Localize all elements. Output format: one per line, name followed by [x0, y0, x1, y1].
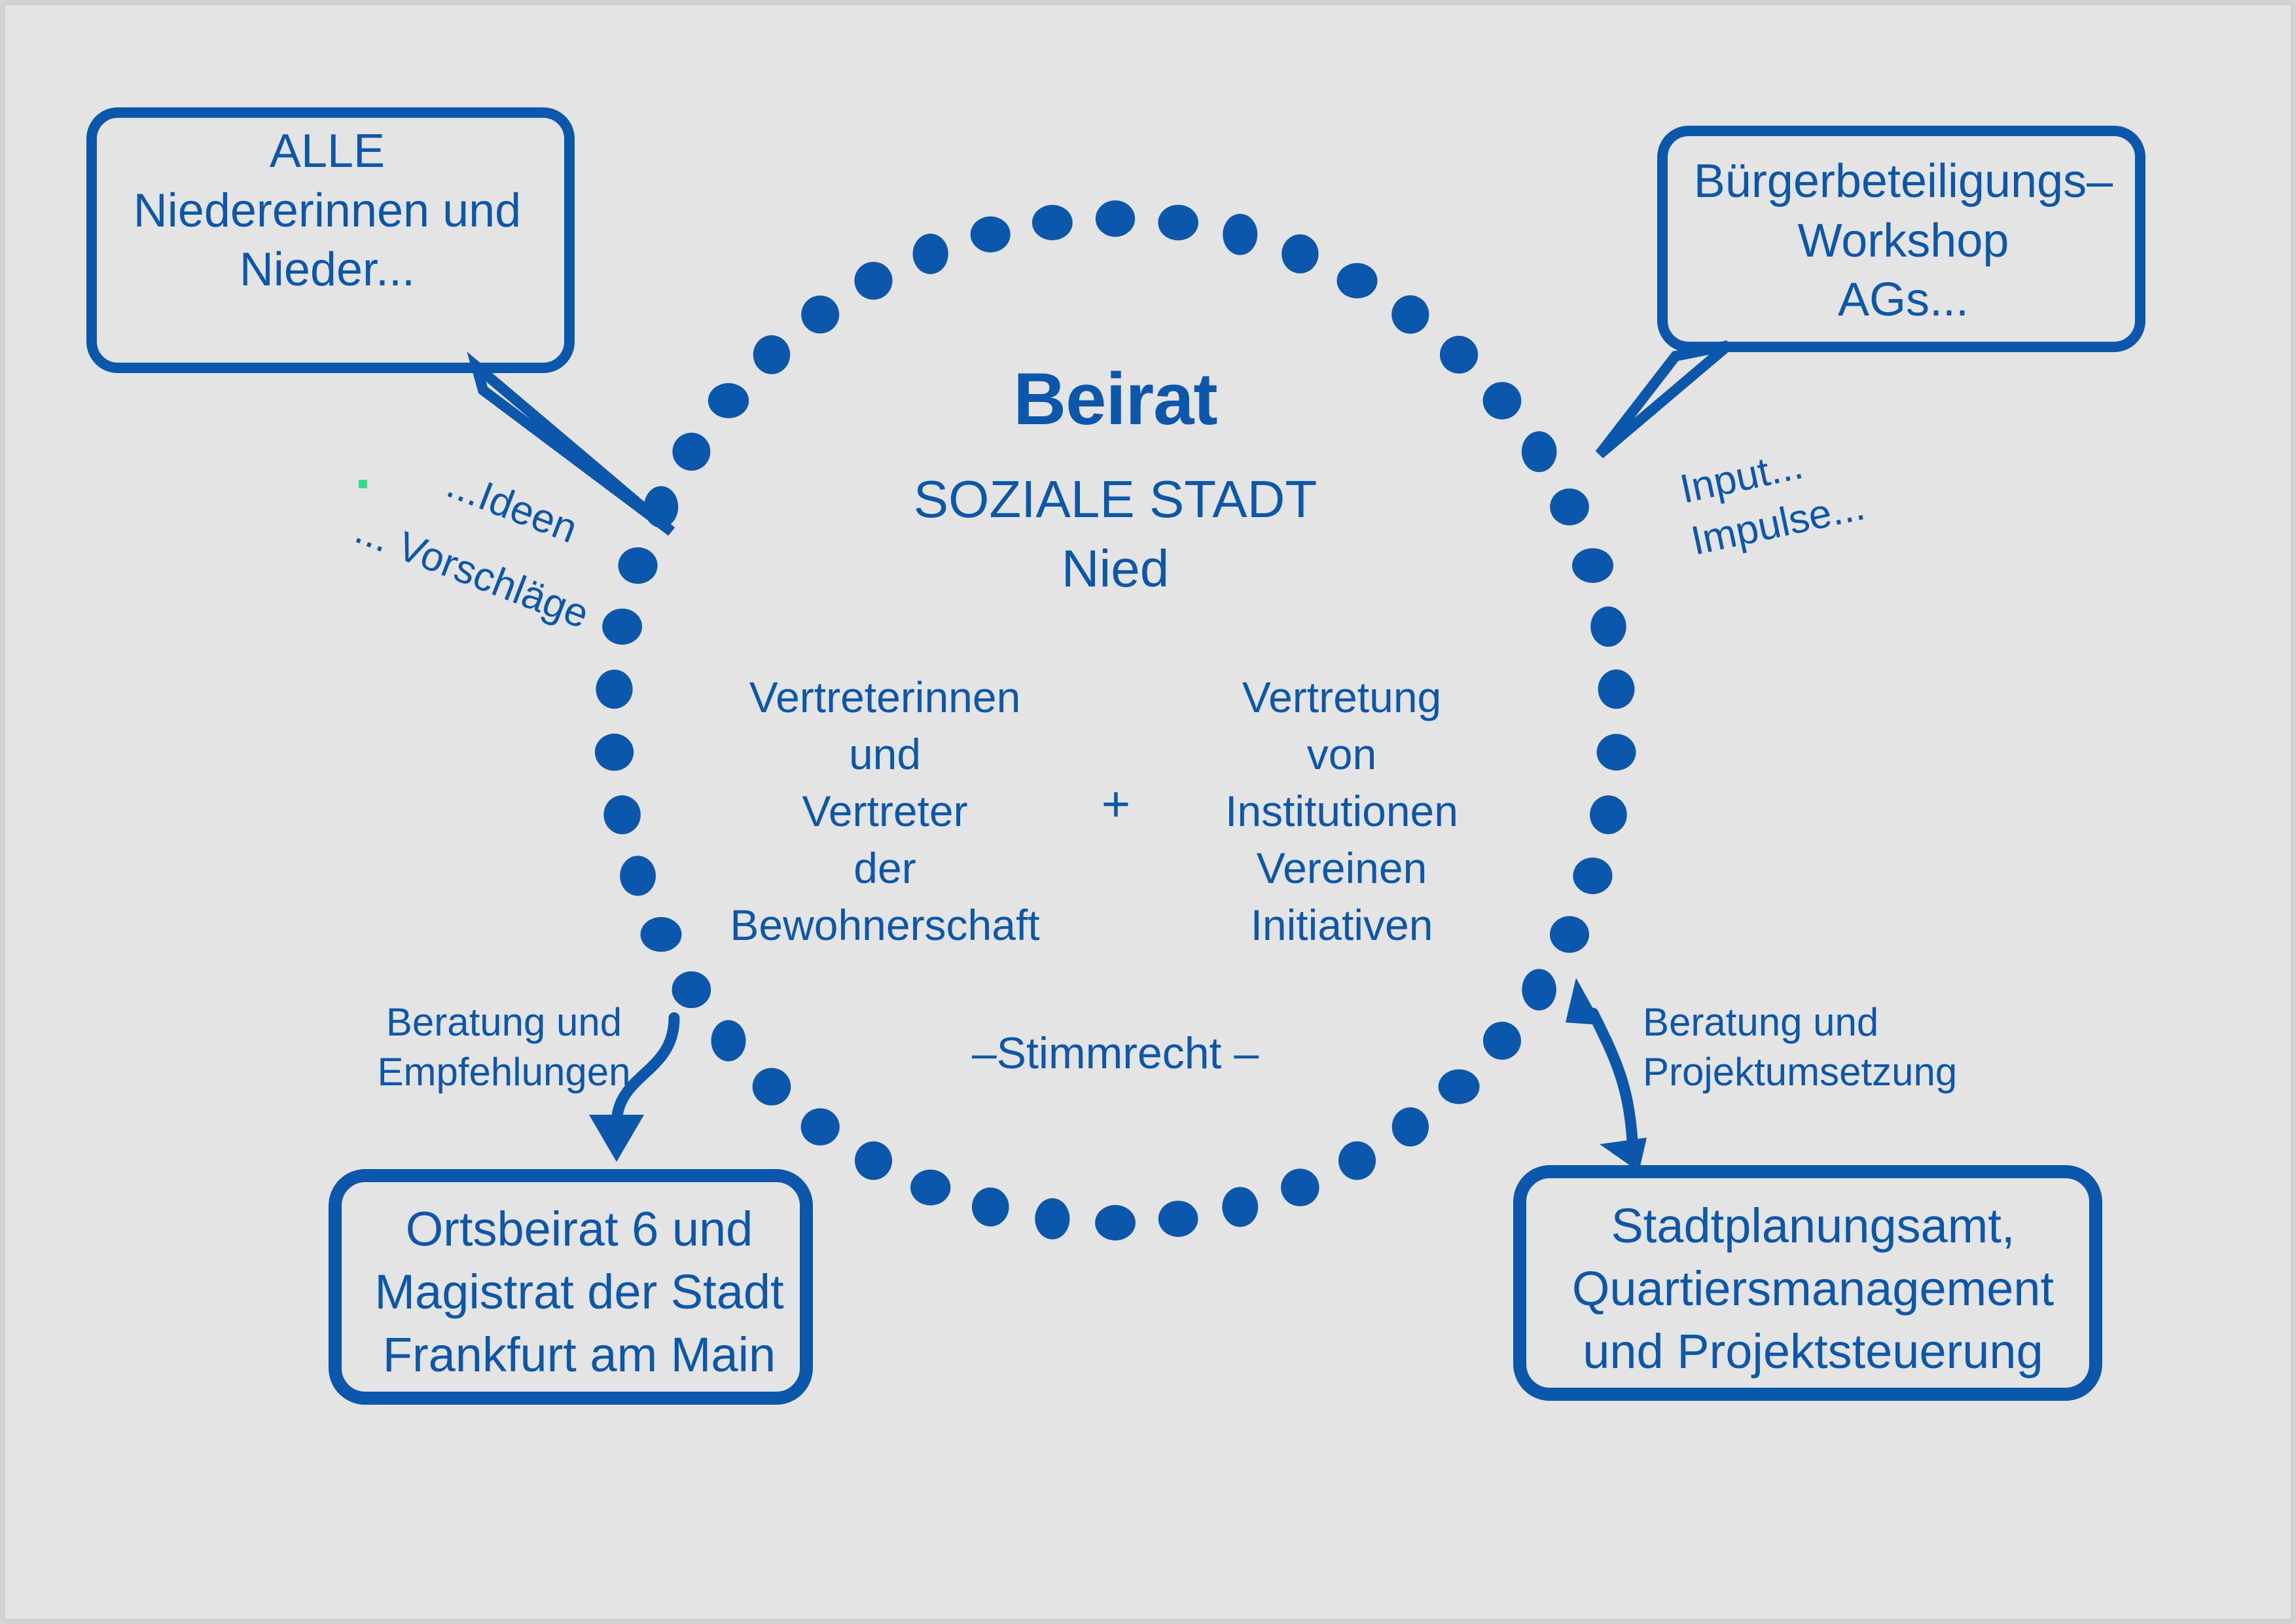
label-beratung-empfehlungen: Beratung und Empfehlungen [367, 998, 641, 1096]
core-title: Beirat [755, 357, 1475, 441]
bubble-top-left-text: ALLE Niedererinnen und Nieder... [92, 122, 563, 300]
ring-dot [1522, 431, 1557, 472]
green-speck-artifact [359, 480, 367, 488]
ring-dot [620, 856, 656, 895]
core-plus-operator: + [1073, 776, 1158, 833]
ring-dot [672, 433, 710, 471]
core-column-right: Vertretung von Institutionen Vereinen In… [1178, 669, 1505, 954]
ring-dot [1590, 607, 1626, 647]
ring-dot [1550, 916, 1589, 953]
ring-dot [1483, 382, 1522, 419]
arrow-beratung-projektumsetzung [1566, 978, 1647, 1172]
ring-dot [1483, 1022, 1521, 1060]
bubble-top-right-text: Bürgerbeteiligungs– Workshop AGs... [1668, 152, 2139, 330]
ring-dot [1282, 234, 1318, 274]
ring-dot [1158, 1200, 1198, 1236]
core-subtitle: SOZIALE STADT Nied [755, 465, 1475, 603]
ring-dot [595, 734, 634, 771]
ring-dot [1596, 734, 1636, 770]
ring-dot [855, 1142, 892, 1180]
ring-dot [1095, 1205, 1136, 1240]
arrowhead-up-right [1566, 978, 1602, 1025]
arrowhead-down-left [589, 1115, 644, 1162]
ring-dot [854, 262, 892, 300]
ring-dot [910, 1170, 950, 1206]
ring-dot [641, 917, 682, 952]
ring-dot [1281, 1168, 1319, 1206]
ring-dot [801, 1108, 840, 1146]
ring-dot [971, 217, 1011, 253]
diagram-canvas: ALLE Niedererinnen und Nieder... Bürgerb… [0, 0, 2296, 1624]
ring-dot [1598, 670, 1635, 709]
core-voting-note: –Stimmrecht – [886, 1028, 1344, 1079]
ring-dot [672, 971, 711, 1008]
ring-dot [801, 295, 839, 333]
ring-dot [1338, 1142, 1376, 1180]
ring-dot [1035, 1198, 1069, 1239]
ring-dot [1590, 795, 1627, 834]
ring-dot [913, 234, 948, 274]
ring-dot [1223, 214, 1257, 255]
ring-dot [1158, 205, 1198, 240]
ring-dot [1096, 200, 1135, 237]
ring-dot [711, 1020, 746, 1061]
ring-dot [603, 795, 641, 835]
ring-dot [1392, 1108, 1429, 1147]
ring-dot [1391, 295, 1429, 334]
ring-dot [1522, 969, 1556, 1010]
ring-dot [1572, 548, 1613, 583]
ring-dot [618, 547, 657, 584]
ring-dot [602, 609, 642, 645]
ring-dot [708, 383, 749, 418]
ring-dot [753, 1068, 791, 1105]
ring-dot [1439, 1070, 1480, 1104]
ring-dot [972, 1187, 1009, 1226]
ring-dot [1573, 857, 1612, 894]
ring-dot [1222, 1187, 1258, 1227]
label-beratung-projektumsetzung: Beratung und Projektumsetzung [1643, 998, 1950, 1096]
box-bottom-right-text: Stadtplanungsamt, Quartiersmanagement un… [1525, 1195, 2101, 1384]
core-column-left: Vertreterinnen und Vertreter der Bewohne… [702, 669, 1068, 954]
box-bottom-left-text: Ortsbeirat 6 und Magistrat der Stadt Fra… [340, 1198, 818, 1387]
bubble-right-tail [1600, 346, 1728, 454]
ring-dot [596, 670, 632, 709]
ring-dot [1336, 263, 1377, 298]
ring-dot [1550, 488, 1589, 525]
ring-dot [1032, 205, 1073, 240]
